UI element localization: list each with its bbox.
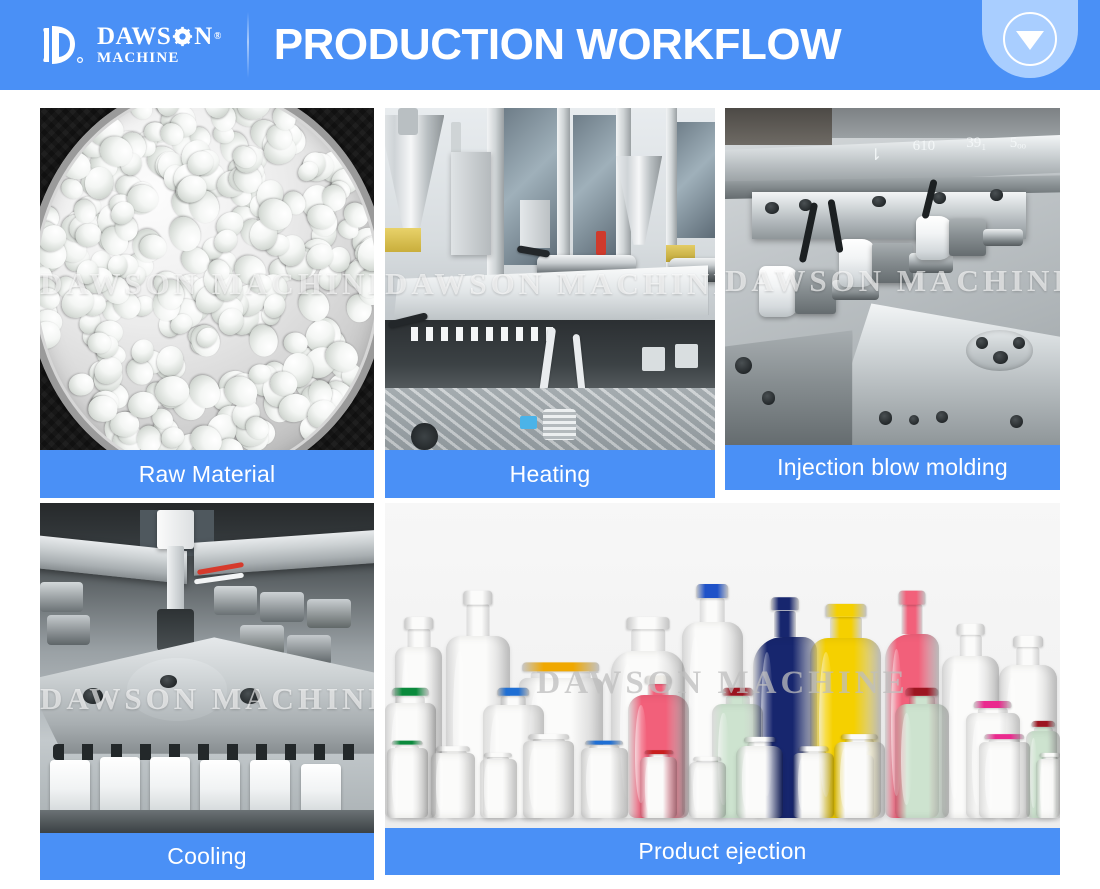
heating-photo: DAWSON MACHINE [385, 108, 715, 450]
badge-circle-outline [1003, 12, 1057, 66]
workflow-step-heating[interactable]: DAWSON MACHINE Heating [385, 108, 715, 498]
workflow-step-raw-material[interactable]: DAWSON MACHINE Raw Material [40, 108, 374, 498]
plastic-bottle [581, 740, 628, 818]
plastic-bottle [523, 734, 574, 819]
plastic-bottle [834, 734, 885, 819]
plastic-bottle [793, 747, 834, 819]
plastic-bottle [736, 737, 783, 818]
workflow-step-cooling[interactable]: DAWSON MACHINE Cooling [40, 503, 374, 880]
page-title: PRODUCTION WORKFLOW [274, 20, 841, 70]
step-label-product-ejection: Product ejection [385, 828, 1060, 875]
header-divider [247, 12, 249, 78]
plastic-bottle [1036, 753, 1060, 818]
brand-name-head: DAWS [97, 24, 171, 49]
brand-name: DAWS [97, 24, 222, 49]
brand-subtitle: MACHINE [97, 51, 222, 66]
registered-mark: ® [214, 32, 222, 42]
step-label-heating: Heating [385, 450, 715, 498]
workflow-grid: DAWSON MACHINE Raw Material [40, 108, 1060, 880]
step-label-cooling: Cooling [40, 833, 374, 880]
cooling-photo: DAWSON MACHINE [40, 503, 374, 833]
page-header: DAWS [0, 0, 1100, 90]
step-label-injection-blow-molding: Injection blow molding [725, 445, 1060, 490]
plastic-bottle [689, 757, 726, 819]
plastic-bottle [640, 750, 677, 818]
raw-material-photo: DAWSON MACHINE [40, 108, 374, 450]
dawson-d-emblem-icon [40, 21, 88, 69]
workflow-step-injection-blow-molding[interactable]: ⇂ 610 39₁ 5ₒₒ [725, 108, 1060, 490]
plastic-bottle [895, 688, 949, 818]
chevron-down-triangle-icon [1016, 31, 1044, 50]
injection-blow-molding-photo: ⇂ 610 39₁ 5ₒₒ [725, 108, 1060, 445]
plastic-bottle [387, 740, 428, 818]
step-label-raw-material: Raw Material [40, 450, 374, 498]
workflow-step-product-ejection[interactable]: DAWSON MACHINE Product ejection [385, 503, 1060, 875]
plastic-bottle [480, 753, 517, 818]
gear-o-icon [172, 26, 193, 47]
brand-logo[interactable]: DAWS [40, 21, 222, 69]
product-ejection-photo: DAWSON MACHINE [385, 503, 1060, 828]
plastic-bottle [979, 734, 1030, 819]
brand-name-tail: N [194, 24, 213, 49]
scroll-down-badge[interactable] [982, 0, 1078, 78]
plastic-bottle [431, 747, 475, 819]
